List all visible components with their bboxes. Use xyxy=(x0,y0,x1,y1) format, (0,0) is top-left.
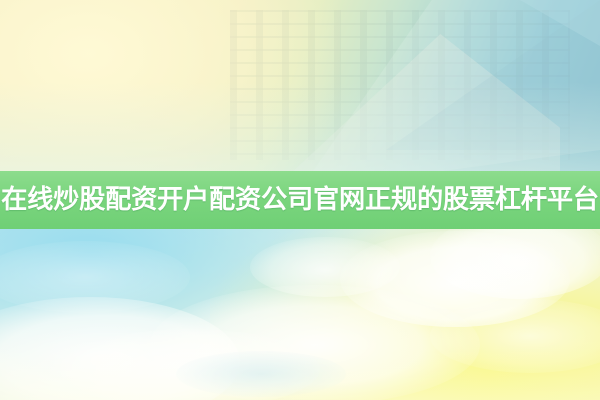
title-band: 在线炒股配资开户配资公司官网正规的股票杠杆平台 xyxy=(0,171,600,229)
banner-title: 在线炒股配资开户配资公司官网正规的股票杠杆平台 xyxy=(0,187,600,213)
sky-haze xyxy=(0,320,600,400)
facet-center-triangle xyxy=(288,34,560,172)
top-gradient-panel xyxy=(0,0,600,172)
facet-upper-right-light xyxy=(300,0,600,172)
texture-speckle xyxy=(230,10,570,160)
panel-bottom-wash xyxy=(0,82,600,172)
cream-bloom xyxy=(0,0,340,172)
banner-image: 在线炒股配资开户配资公司官网正规的股票杠杆平台 xyxy=(0,0,600,400)
facet-corner-wedge xyxy=(520,0,600,46)
sky-panel xyxy=(0,229,600,400)
facet-right-triangle xyxy=(386,0,600,150)
